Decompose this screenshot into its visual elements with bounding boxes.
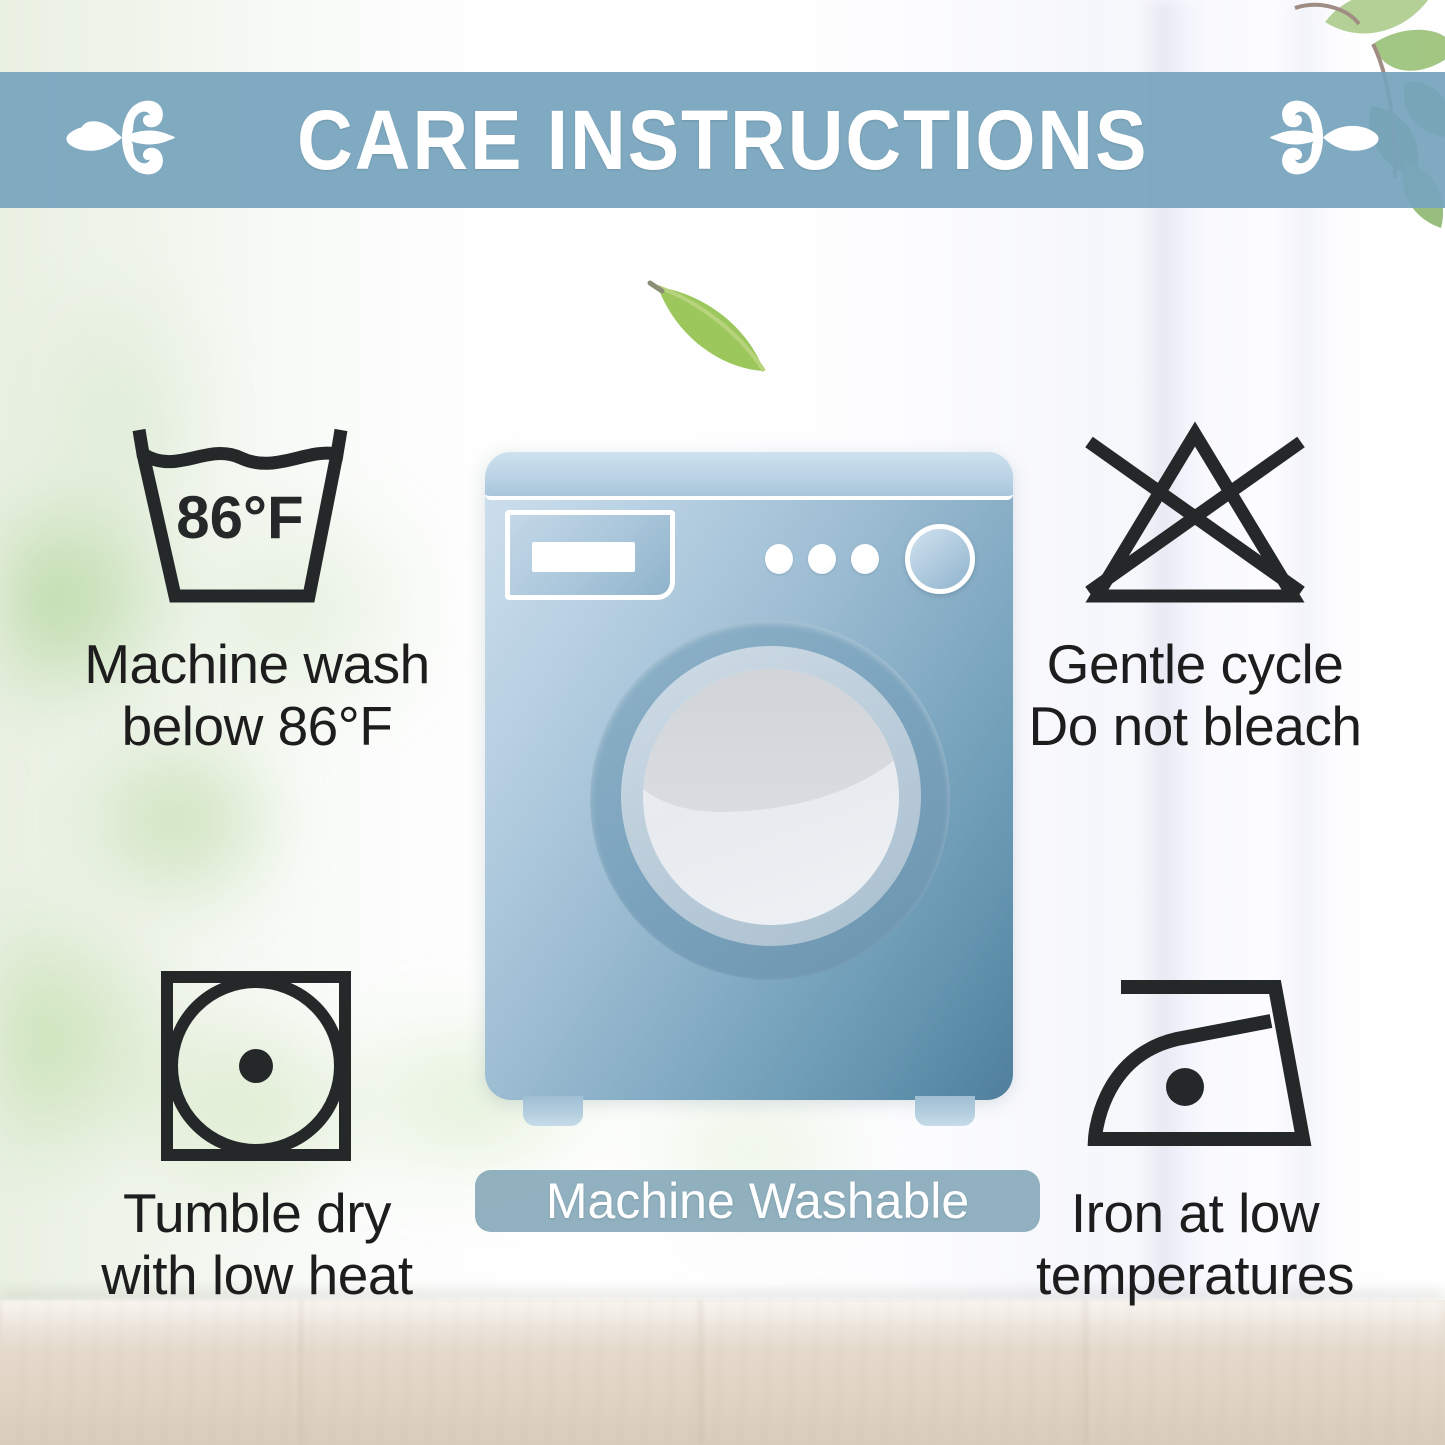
machine-door-ring: [621, 646, 921, 946]
indicator-light: [851, 544, 879, 574]
machine-lid: [485, 452, 1013, 500]
care-symbol-iron-low: Iron at low temperatures: [960, 965, 1430, 1306]
care-symbol-caption: Machine wash below 86°F: [22, 634, 492, 757]
wood-seam: [1085, 1300, 1087, 1445]
care-symbol-caption: Gentle cycle Do not bleach: [960, 634, 1430, 757]
iron-one-dot-icon: [960, 965, 1430, 1165]
washing-machine-illustration: [485, 452, 1013, 1112]
caption-line-2: Do not bleach: [960, 696, 1430, 758]
machine-door-glass: [643, 669, 899, 925]
leaf-icon: [640, 275, 780, 390]
care-instructions-infographic: CARE INSTRUCTIONS: [0, 0, 1445, 1445]
care-symbol-tumble-dry: Tumble dry with low heat: [22, 965, 492, 1306]
caption-line-2: with low heat: [22, 1245, 492, 1307]
machine-washable-badge: Machine Washable: [475, 1170, 1040, 1232]
indicator-light: [765, 544, 793, 574]
fleur-de-lis-icon: [62, 92, 182, 189]
caption-line-2: below 86°F: [22, 696, 492, 758]
machine-foot: [523, 1096, 583, 1126]
caption-line-1: Gentle cycle: [960, 634, 1430, 696]
page-title: CARE INSTRUCTIONS: [297, 98, 1148, 182]
background-wood-grain: [0, 1300, 1445, 1445]
tumble-dry-square-circle-icon: [22, 965, 492, 1165]
care-symbol-caption: Tumble dry with low heat: [22, 1183, 492, 1306]
care-symbol-machine-wash: 86°F Machine wash below 86°F: [22, 420, 492, 757]
wood-seam: [300, 1300, 302, 1445]
machine-door-highlight: [643, 669, 899, 812]
care-symbol-do-not-bleach: Gentle cycle Do not bleach: [960, 420, 1430, 757]
caption-line-2: temperatures: [960, 1245, 1430, 1307]
caption-line-1: Tumble dry: [22, 1183, 492, 1245]
header-banner: CARE INSTRUCTIONS: [0, 72, 1445, 208]
machine-washable-label: Machine Washable: [546, 1176, 969, 1226]
detergent-drawer-slot: [532, 542, 635, 572]
wood-seam: [700, 1300, 702, 1445]
wash-tub-icon: 86°F: [22, 420, 492, 616]
fleur-de-lis-icon: [1263, 92, 1383, 189]
triangle-crossed-out-icon: [960, 420, 1430, 616]
caption-line-1: Machine wash: [22, 634, 492, 696]
indicator-light: [808, 544, 836, 574]
detergent-drawer: [505, 510, 675, 600]
wash-temperature-value: 86°F: [176, 484, 303, 551]
machine-door: [590, 620, 950, 980]
